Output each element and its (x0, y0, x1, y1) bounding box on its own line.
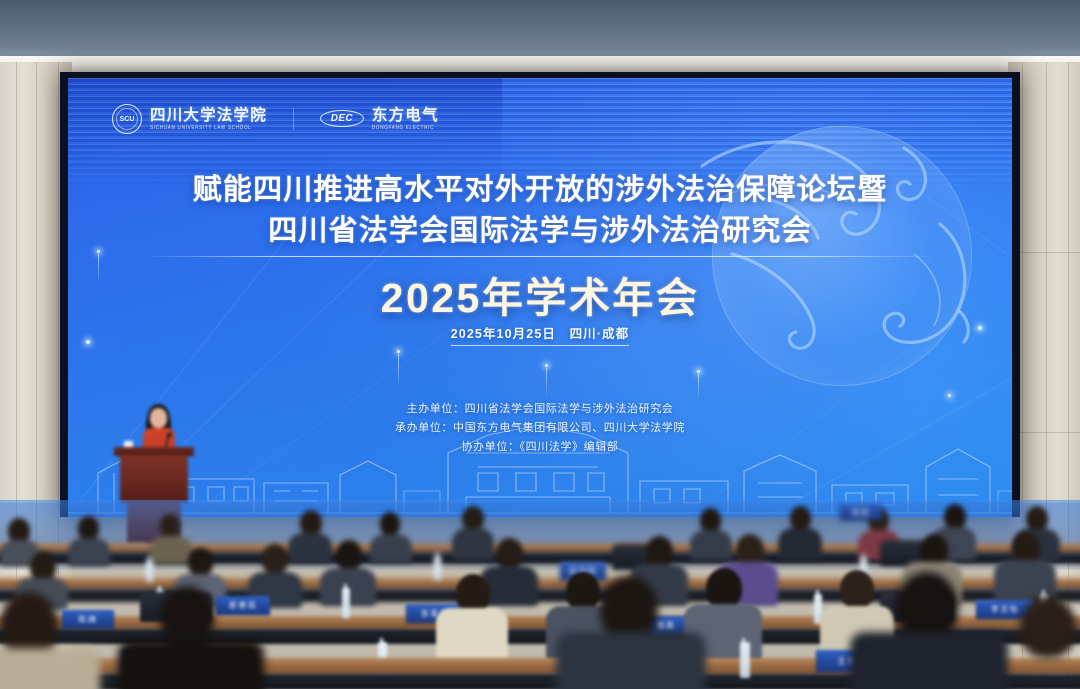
led-screen-bezel: SCU 四川大学法学院 SICHUAN UNIVERSITY LAW SCHOO… (60, 72, 1020, 517)
date-location: 2025年10月25日 四川·成都 (451, 323, 629, 346)
attendee-head (462, 506, 484, 530)
name-placard: 蔡睿雨 (216, 596, 270, 615)
sparkle (545, 364, 548, 367)
attendee-head (380, 512, 400, 535)
attendee-body-foreground (118, 640, 264, 689)
attendee-body (690, 530, 732, 560)
sparkle-stem (398, 354, 399, 388)
logo-scu-english: SICHUAN UNIVERSITY LAW SCHOOL (150, 125, 267, 131)
event-title: 赋能四川推进高水平对外开放的涉外法治保障论坛暨 四川省法学会国际法学与涉外法治研… (68, 170, 1012, 252)
logo-dec-english: DONGFANG ELECTRIC (372, 125, 439, 131)
attendee-head (706, 568, 742, 608)
attendee-body (68, 538, 110, 566)
attendee-head (336, 540, 362, 570)
podium-body (120, 455, 188, 503)
water-bottle (740, 642, 750, 678)
attendee-head-foreground (0, 592, 58, 656)
organizer-line-support: 协办单位：《四川法学》编辑部 (68, 438, 1012, 457)
logo-scu-chinese: 四川大学法学院 (150, 108, 267, 124)
ceiling (0, 0, 1080, 62)
attendee-body (452, 528, 494, 560)
organizer-line-cohost: 承办单位：中国东方电气集团有限公司、四川大学法学院 (68, 419, 1012, 438)
attendee-head (944, 504, 966, 529)
conference-hall-photo: SCU 四川大学法学院 SICHUAN UNIVERSITY LAW SCHOO… (0, 0, 1080, 689)
attendee-head (456, 574, 490, 612)
year-heading: 2025年学术年会 (68, 264, 1012, 324)
attendee-head (160, 514, 180, 537)
audience-area: 黄建鹏 张蕊 蔡睿雨 陈婧 (0, 500, 1080, 689)
led-screen: SCU 四川大学法学院 SICHUAN UNIVERSITY LAW SCHOO… (68, 78, 1012, 517)
attendee-head (790, 506, 811, 530)
attendee-head-foreground (160, 586, 214, 646)
sparkle (697, 370, 700, 373)
logo-divider (293, 108, 294, 130)
attendee-body (150, 536, 192, 564)
date-location-wrap: 2025年10月25日 四川·成都 (68, 323, 1012, 346)
speaker-head (150, 408, 167, 428)
attendee-head-foreground (1020, 596, 1076, 658)
water-bottle (342, 588, 350, 618)
attendee-head (840, 570, 874, 608)
water-bottle (434, 556, 441, 580)
name-placard: 陈婧 (62, 610, 114, 629)
sparkle (397, 350, 400, 353)
attendee-head (30, 552, 56, 581)
logo-sichuan-university-law-school: SCU 四川大学法学院 SICHUAN UNIVERSITY LAW SCHOO… (112, 104, 267, 134)
attendee-body (778, 528, 822, 560)
attendee-head (1026, 506, 1048, 531)
attendee-head (700, 508, 721, 532)
attendee-body-foreground (0, 648, 100, 689)
sponsor-logo-row: SCU 四川大学法学院 SICHUAN UNIVERSITY LAW SCHOO… (112, 104, 439, 134)
attendee-head (78, 516, 99, 540)
attendee-head (566, 572, 600, 610)
dec-oval-icon: DEC (320, 110, 364, 127)
logo-dec-chinese: 东方电气 (372, 108, 439, 124)
attendee-head (496, 538, 523, 568)
attendee-body-foreground (850, 632, 1008, 689)
attendee-head (188, 548, 213, 576)
dec-mark: DEC (331, 113, 353, 124)
attendee-head-foreground (600, 576, 658, 640)
attendee-body-foreground (556, 632, 706, 689)
attendee-head (646, 536, 673, 567)
attendee-body (288, 533, 332, 563)
seal-text: SCU (120, 116, 135, 123)
ceiling-beam (0, 56, 1080, 72)
university-seal-icon: SCU (112, 104, 142, 134)
title-divider-rule (144, 256, 937, 257)
name-placard: 张蕊 (840, 504, 882, 520)
attendee-body (436, 608, 508, 660)
title-line-1: 赋能四川推进高水平对外开放的涉外法治保障论坛暨 (68, 170, 1012, 211)
attendee-body (370, 534, 412, 563)
logo-dongfang-electric: DEC 东方电气 DONGFANG ELECTRIC (320, 108, 439, 130)
attendee-head (262, 544, 288, 574)
attendee-head-foreground (896, 572, 958, 640)
title-line-2: 四川省法学会国际法学与涉外法治研究会 (68, 211, 1012, 252)
organizer-block: 主办单位：四川省法学会国际法学与涉外法治研究会 承办单位：中国东方电气集团有限公… (68, 400, 1012, 457)
attendee-head (300, 510, 322, 535)
water-bottle (146, 560, 153, 582)
organizer-line-host: 主办单位：四川省法学会国际法学与涉外法治研究会 (68, 400, 1012, 419)
